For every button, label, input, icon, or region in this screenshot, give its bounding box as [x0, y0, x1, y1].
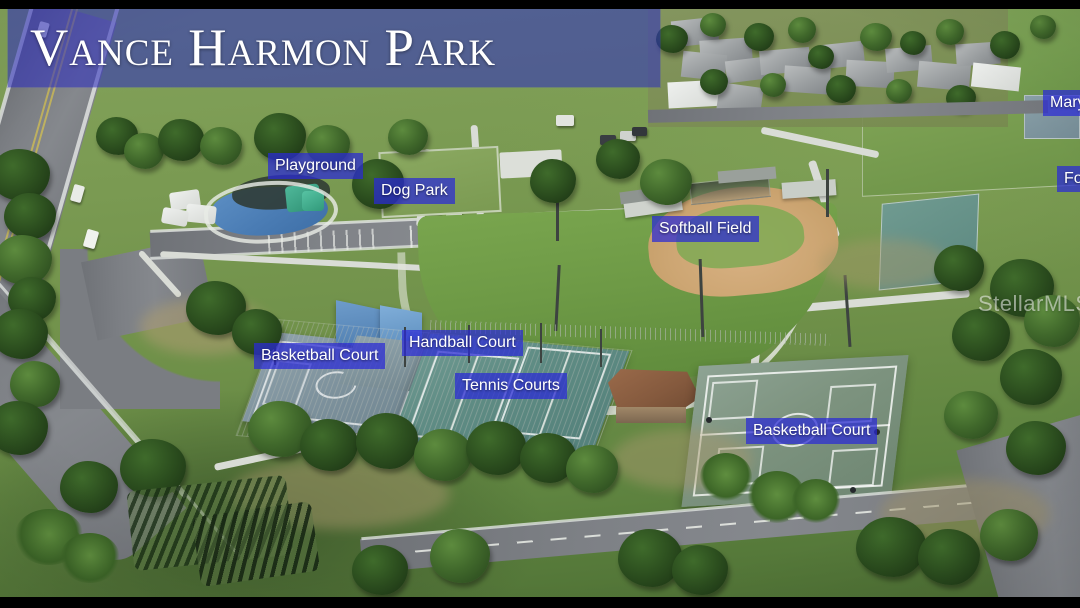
- tree: [640, 159, 692, 205]
- tree: [808, 45, 834, 69]
- tree: [300, 419, 358, 471]
- light-pole: [826, 169, 829, 217]
- court-key: [828, 448, 879, 489]
- palm-tree: [792, 479, 840, 523]
- tree: [466, 421, 526, 475]
- tree: [934, 245, 984, 291]
- palm-tree: [60, 533, 120, 583]
- tree: [4, 193, 56, 239]
- map-label-softball-field[interactable]: Softball Field: [652, 216, 759, 242]
- tree: [388, 119, 428, 155]
- map-label-handball-court[interactable]: Handball Court: [402, 330, 523, 356]
- tree: [1006, 421, 1066, 475]
- basketball-hoop: [850, 487, 856, 493]
- fence-post: [600, 329, 602, 367]
- tree: [596, 139, 640, 179]
- map-label-dog-park[interactable]: Dog Park: [374, 178, 455, 204]
- screenshot-stage: Vance Harmon Park Playground Dog Park So…: [0, 0, 1080, 608]
- tree: [60, 461, 118, 513]
- map-label-basketball-court-left[interactable]: Basketball Court: [254, 343, 385, 369]
- letterbox-top: [0, 0, 1080, 9]
- tree: [760, 73, 786, 97]
- map-label-tennis-courts[interactable]: Tennis Courts: [455, 373, 567, 399]
- tree: [1000, 349, 1062, 405]
- house-roof: [971, 63, 1021, 92]
- tree: [414, 429, 472, 481]
- tree: [158, 119, 204, 161]
- tree: [656, 25, 688, 53]
- tree: [672, 545, 728, 595]
- palm-tree: [700, 453, 752, 501]
- tree: [430, 529, 490, 583]
- tree: [900, 31, 926, 55]
- tree: [826, 75, 856, 103]
- map-label-truncated-fo[interactable]: Fo: [1057, 166, 1080, 192]
- tree: [356, 413, 418, 469]
- tree: [200, 127, 242, 165]
- tree: [618, 529, 682, 587]
- tree: [936, 19, 964, 45]
- tree: [352, 545, 408, 595]
- tree: [700, 13, 726, 37]
- tree: [1030, 15, 1056, 39]
- tree: [990, 31, 1020, 59]
- house-roof: [783, 65, 831, 94]
- map-label-truncated-mary[interactable]: Mary: [1043, 90, 1080, 116]
- tree: [860, 23, 892, 51]
- tree: [886, 79, 912, 103]
- court-key: [708, 380, 759, 421]
- aerial-photograph: [0, 9, 1080, 597]
- map-label-basketball-court-right[interactable]: Basketball Court: [746, 418, 877, 444]
- tree: [744, 23, 774, 51]
- tree: [566, 445, 618, 493]
- page-title: Vance Harmon Park: [8, 22, 496, 75]
- basketball-hoop: [706, 417, 712, 423]
- title-banner: Vance Harmon Park: [8, 9, 660, 87]
- car: [556, 115, 574, 126]
- tree: [980, 509, 1038, 561]
- tree: [918, 529, 980, 585]
- car: [632, 127, 647, 136]
- park-building-wall: [616, 407, 686, 423]
- tree: [788, 17, 816, 43]
- tree: [700, 69, 728, 95]
- letterbox-bottom: [0, 597, 1080, 608]
- dirt-patch: [820, 239, 950, 289]
- stellarmls-watermark: StellarMLS: [978, 291, 1080, 317]
- tree: [856, 517, 926, 577]
- tree: [944, 391, 998, 439]
- fence-post: [540, 323, 542, 363]
- map-label-playground[interactable]: Playground: [268, 153, 363, 179]
- tree: [530, 159, 576, 203]
